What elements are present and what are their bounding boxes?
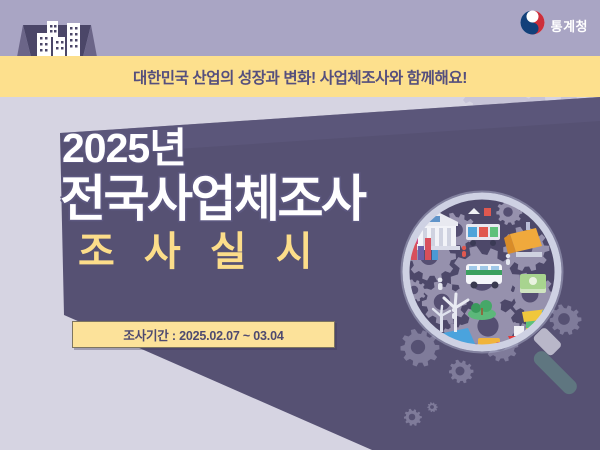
korea-government-taegeuk-logo	[520, 10, 545, 40]
cash-money-icon	[520, 274, 546, 293]
poster-canvas: 통계청 대한민국 산업의 성장과 변화! 사업체조사와 함께해요!	[0, 0, 600, 450]
headline-block: 2025년 전국사업체조사 조 사 실 시	[62, 128, 482, 274]
agency-logo-label: 통계청	[551, 16, 588, 35]
headline-main: 전국사업체조사	[60, 173, 482, 226]
magnifier-handle	[531, 326, 580, 397]
city-buildings-icon	[17, 11, 97, 58]
survey-period-badge: 조사기간 : 2025.02.07 ~ 03.04	[72, 321, 335, 348]
agency-logo: 통계청	[520, 12, 588, 38]
subtitle-text: 대한민국 산업의 성장과 변화! 사업체조사와 함께해요!	[0, 56, 600, 97]
headline-sub: 조 사 실 시	[78, 230, 482, 274]
headline-year: 2025년	[62, 128, 482, 169]
